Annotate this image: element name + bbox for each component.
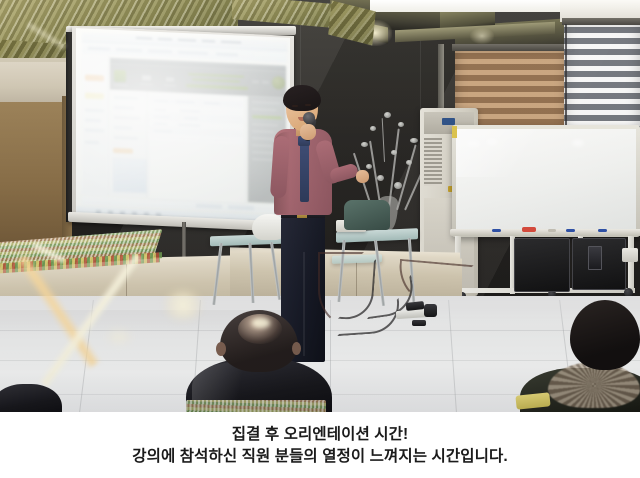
projection-screen-surface[interactable] [76,28,290,223]
air-conditioner-grille [424,138,442,186]
dried-flower-bud [361,142,368,147]
whiteboard-eraser[interactable] [548,229,556,232]
whiteboard-highlight [572,140,584,146]
air-conditioner-display [442,118,455,125]
dried-flower-bud [406,160,412,165]
whiteboard-marker-tray[interactable] [450,229,640,236]
marker-blue[interactable] [566,229,575,232]
power-plug [412,320,426,326]
ceiling-light-glow [470,28,494,44]
floor-mat [186,400,326,412]
projection-glare [76,28,290,223]
wall-outlet [622,248,638,262]
audience-ear [216,342,226,356]
sunlight-hotspot [104,330,134,344]
presenter-tie [300,140,309,202]
presenter-eye [292,105,298,107]
equipment-display [588,246,602,270]
dried-flower-bud [391,150,397,155]
event-photo [0,0,640,412]
caption-line-1: 집결 후 오리엔테이션 시간! [232,425,408,444]
whiteboard-highlight [466,140,480,147]
trouser-crease [303,252,305,356]
presenter-left-hand [300,124,316,140]
presenter-eye [305,104,311,106]
sunlight-hotspot [162,290,204,320]
dried-flower-bud [366,164,372,169]
caption-block: 집결 후 오리엔테이션 시간! 강의에 참석하신 직원 분들의 열정이 느껴지는… [0,412,640,478]
whiteboard-glare [456,129,636,177]
whiteboard-stand-leg [628,236,634,288]
speaker-case [514,238,570,292]
presenter-right-hand [356,170,369,183]
whiteboard-corner-label [452,126,457,138]
power-adapter [424,304,437,317]
dried-flower-bud [370,126,376,131]
dried-flower-bud [394,182,402,189]
dried-flower-bud [398,122,404,127]
caption-line-2: 강의에 참석하신 직원 분들의 열정이 느껴지는 시간입니다. [132,447,508,466]
page-root: 집결 후 오리엔테이션 시간! 강의에 참석하신 직원 분들의 열정이 느껴지는… [0,0,640,478]
dried-flower-bud [384,112,391,118]
audience-ear [292,342,301,355]
green-chair[interactable] [344,200,390,230]
presenter-hair [283,85,321,111]
blind-headrail[interactable] [562,18,640,25]
audience-member-front-right-head [570,300,640,370]
dried-flower-bud [410,138,418,143]
blind-headrail[interactable] [452,44,572,51]
microphone-head[interactable] [303,112,315,124]
whiteboard-highlight [486,139,498,145]
marker-red[interactable] [522,227,536,232]
marker-blue[interactable] [598,229,607,232]
dried-flower-bud [377,175,384,181]
marker-blue[interactable] [492,229,501,232]
head-highlight [252,318,270,328]
wall-panel-tan [0,102,68,254]
